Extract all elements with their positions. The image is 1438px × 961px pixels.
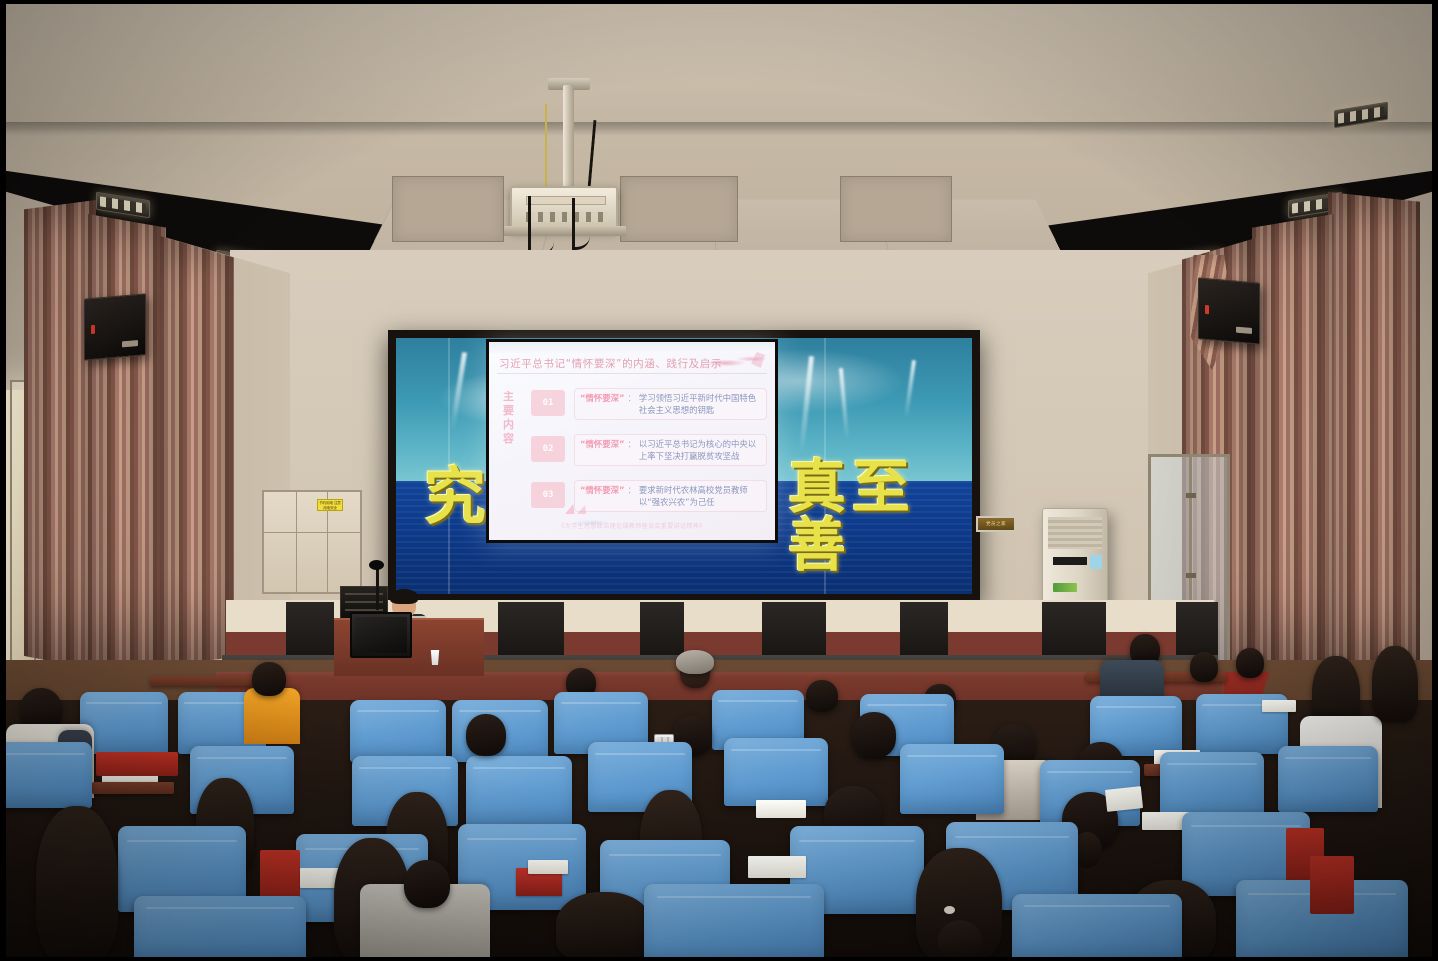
speaker-badge: [122, 340, 138, 347]
slide-title: 习近平总书记“情怀要深”的内涵、践行及启示: [499, 356, 729, 371]
projector-power-cable: [545, 104, 547, 196]
curtain-left: [24, 200, 96, 670]
frame-border-top: [0, 0, 1438, 4]
attendee-torso: [244, 688, 300, 744]
electrical-safety-sign: 节约用电 注意用电安全: [317, 499, 343, 511]
curtain-right: [1252, 214, 1334, 674]
auditorium-seat[interactable]: [724, 738, 828, 806]
slide-item-key: “情怀要深”: [580, 438, 625, 462]
attendee-head: [676, 650, 714, 674]
hair-tie: [944, 906, 955, 914]
seat-frame: [1310, 856, 1354, 914]
ceiling-projector: [510, 186, 618, 230]
curtain-right: [1328, 192, 1420, 682]
slide-item-text: 要求新时代农林高校党员教师以“强农兴农”为己任: [639, 484, 761, 508]
attendee-head: [852, 712, 896, 758]
auditorium-seat[interactable]: [900, 744, 1004, 814]
stage-panel: [1042, 602, 1106, 662]
attendee-head: [1190, 652, 1218, 682]
attendee-head: [252, 662, 286, 696]
lecture-hall-scene: 究 真至善 习近平总书记“情怀要深”的内涵、践行及启示 主要内容 01 “情怀要…: [0, 0, 1438, 961]
speaker-led-icon: [91, 325, 95, 334]
frame-border-left: [0, 0, 6, 961]
ceiling-soffit: [0, 0, 1438, 130]
attendee-head: [556, 892, 652, 961]
ac-display: [1053, 557, 1087, 565]
auditorium-seat[interactable]: [1012, 894, 1182, 961]
auditorium-seat[interactable]: [466, 756, 572, 826]
slide-item-number: 02: [531, 436, 565, 462]
slide-item-card: “情怀要深” ： 学习领悟习近平新时代中国特色社会主义思想的钥匙: [574, 388, 767, 420]
projection-screen: 习近平总书记“情怀要深”的内涵、践行及启示 主要内容 01 “情怀要深” ： 学…: [486, 339, 778, 543]
ac-energy-label: [1090, 555, 1102, 569]
soffit-shadow: [0, 122, 1438, 136]
microphone-stand: [376, 566, 379, 610]
slide-footer: 《大学生思想政治理论课教师座谈会重要讲话精神》: [489, 521, 775, 530]
projector-base-plate: [504, 226, 626, 236]
door-hinge-icon: [1186, 573, 1196, 578]
ceiling-tile: [840, 176, 952, 242]
auditorium-seat[interactable]: [350, 700, 446, 762]
slide-item-number: 01: [531, 390, 565, 416]
frame-border-bottom: [0, 957, 1438, 961]
projector-cable: [528, 196, 554, 256]
wall-speaker-right: [1198, 277, 1260, 344]
ceiling-tile: [392, 176, 504, 242]
notepad: [756, 800, 806, 818]
wall-notice-board: [262, 490, 362, 594]
auditorium-seat[interactable]: [0, 742, 92, 808]
curtain-left: [160, 236, 234, 666]
stage-panel: [900, 602, 948, 662]
stage-panel: [762, 602, 826, 662]
slide-title-rule: [497, 373, 767, 374]
ac-brand-logo: [1053, 583, 1077, 592]
mural-left-character: 究: [424, 466, 486, 528]
desk: [92, 782, 174, 794]
ac-grille: [1048, 517, 1102, 549]
stage-panel: [286, 602, 334, 662]
curtain-left: [88, 214, 166, 669]
door-hinge-icon: [1186, 493, 1196, 498]
notepad: [1105, 786, 1143, 812]
slide-item-card: “情怀要深” ： 以习近平总书记为核心的中央以上率下坚决打赢脱贫攻坚战: [574, 434, 767, 466]
slide-item-text: 学习领悟习近平新时代中国特色社会主义思想的钥匙: [639, 392, 761, 416]
attendee-head: [806, 680, 838, 712]
auditorium-seat[interactable]: [644, 884, 824, 961]
presenter-hair: [390, 589, 418, 604]
seat-frame: [96, 752, 178, 776]
attendee-head: [36, 806, 118, 961]
slide-item-colon: ：: [628, 392, 636, 416]
wall-speaker-left: [84, 293, 146, 360]
slide-item-01: 01 “情怀要深” ： 学习领悟习近平新时代中国特色社会主义思想的钥匙: [531, 388, 767, 420]
attendee-ponytail: [938, 920, 982, 961]
slide-item-colon: ：: [628, 438, 636, 462]
monitor-screen: [355, 617, 407, 653]
podium-monitor: [350, 612, 412, 658]
slide-item-02: 02 “情怀要深” ： 以习近平总书记为核心的中央以上率下坚决打赢脱贫攻坚战: [531, 434, 767, 466]
slide-item-key: “情怀要深”: [580, 392, 625, 416]
ceiling-tile: [620, 176, 738, 242]
slide-item-colon: ：: [628, 484, 636, 508]
slide-side-label: 主要内容: [500, 390, 517, 446]
notepad: [528, 860, 568, 874]
speaker-led-icon: [1205, 305, 1209, 314]
frame-border-right: [1432, 0, 1438, 961]
mural-right-characters: 真至善: [788, 458, 972, 574]
auditorium-seat[interactable]: [1160, 752, 1264, 820]
attendee-head: [466, 714, 506, 756]
wall-plaque: 党员之家: [976, 516, 1016, 532]
microphone-icon: [369, 560, 384, 570]
slide-item-number: 03: [531, 482, 565, 508]
speaker-badge: [1236, 327, 1252, 334]
notepad: [748, 856, 806, 878]
stage-panel: [640, 602, 684, 662]
notepad: [1262, 700, 1296, 712]
slide-item-text: 以习近平总书记为核心的中央以上率下坚决打赢脱贫攻坚战: [639, 438, 761, 462]
projector-cable: [572, 198, 590, 250]
attendee-head: [1372, 646, 1418, 722]
attendee-head: [1236, 648, 1264, 678]
stage-panel: [498, 602, 564, 662]
auditorium-seat[interactable]: [1278, 746, 1378, 812]
attendee-head: [404, 860, 450, 908]
presentation-slide: 习近平总书记“情怀要深”的内涵、践行及启示 主要内容 01 “情怀要深” ： 学…: [489, 342, 775, 540]
auditorium-seat[interactable]: [134, 896, 306, 961]
